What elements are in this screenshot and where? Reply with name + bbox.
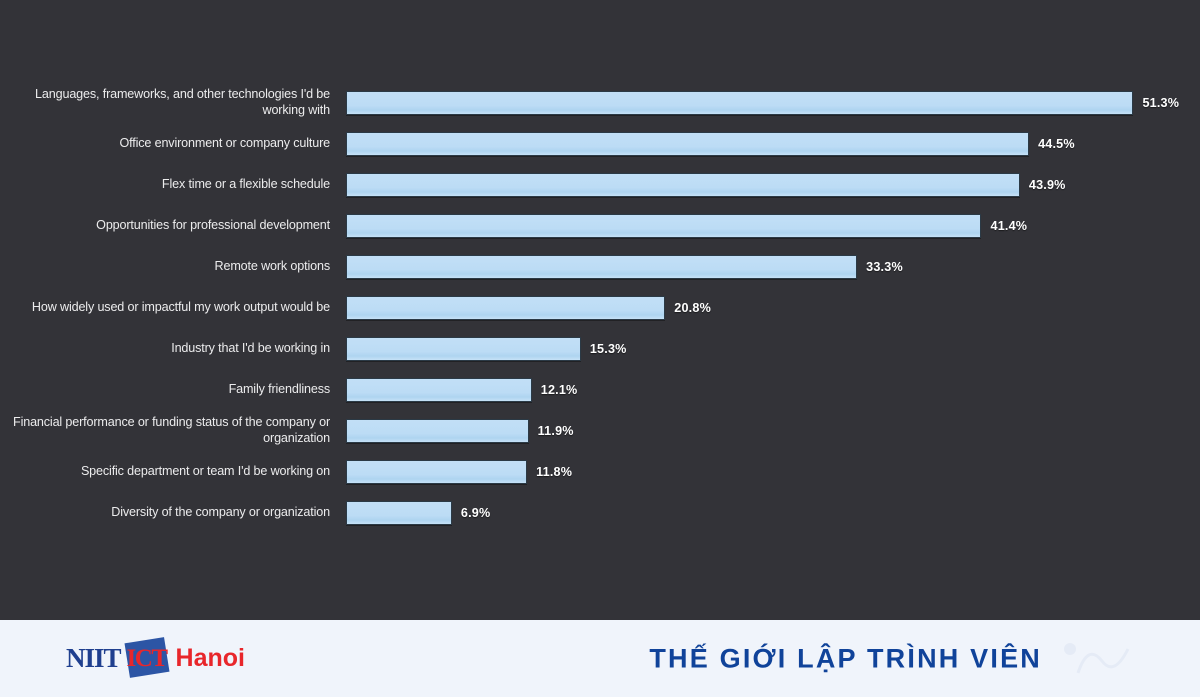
bar-row: Financial performance or funding status … <box>0 410 1200 451</box>
bar[interactable] <box>346 173 1020 197</box>
bar-value-label: 51.3% <box>1142 96 1179 110</box>
bar-category-label: Financial performance or funding status … <box>0 415 330 446</box>
bar-row: Remote work options33.3% <box>0 246 1200 287</box>
bar-value-label: 12.1% <box>541 383 578 397</box>
bar[interactable] <box>346 214 981 238</box>
chart-panel: Languages, frameworks, and other technol… <box>0 0 1200 620</box>
logo-ict-mark-icon: ICT <box>123 638 171 678</box>
bar-row: How widely used or impactful my work out… <box>0 287 1200 328</box>
bar[interactable] <box>346 296 665 320</box>
bar-track: 6.9% <box>346 492 1200 533</box>
footer-inner: NIIT ICT Hanoi THẾ GIỚI LẬP TRÌNH VIÊN <box>0 620 1200 697</box>
logo-text-hanoi: Hanoi <box>176 646 245 671</box>
bar-track: 11.8% <box>346 451 1200 492</box>
bar-value-label: 20.8% <box>674 301 711 315</box>
bar[interactable] <box>346 501 452 525</box>
bar-row: Opportunities for professional developme… <box>0 205 1200 246</box>
bar-track: 15.3% <box>346 328 1200 369</box>
bar[interactable] <box>346 91 1133 115</box>
bar-category-label: Industry that I'd be working in <box>0 341 330 357</box>
bar-track: 33.3% <box>346 246 1200 287</box>
bar-category-label: Remote work options <box>0 259 330 275</box>
bar-value-label: 15.3% <box>590 342 627 356</box>
bar-category-label: Family friendliness <box>0 382 330 398</box>
bar-row: Family friendliness12.1% <box>0 369 1200 410</box>
bar-category-label: How widely used or impactful my work out… <box>0 300 330 316</box>
bar-category-label: Flex time or a flexible schedule <box>0 177 330 193</box>
bar-row: Specific department or team I'd be worki… <box>0 451 1200 492</box>
bar-value-label: 6.9% <box>461 506 491 520</box>
bar-chart-plot: Languages, frameworks, and other technol… <box>0 82 1200 533</box>
bar[interactable] <box>346 255 857 279</box>
bar-track: 44.5% <box>346 123 1200 164</box>
bar-row: Industry that I'd be working in15.3% <box>0 328 1200 369</box>
bar-value-label: 43.9% <box>1029 178 1066 192</box>
bar[interactable] <box>346 132 1029 156</box>
logo-text-ict: ICT <box>123 646 171 671</box>
footer-bar: NIIT ICT Hanoi THẾ GIỚI LẬP TRÌNH VIÊN <box>0 620 1200 697</box>
bar-track: 43.9% <box>346 164 1200 205</box>
watermark-icon <box>1058 635 1148 687</box>
bar-row: Flex time or a flexible schedule43.9% <box>0 164 1200 205</box>
footer-tagline: THẾ GIỚI LẬP TRÌNH VIÊN <box>649 643 1042 674</box>
bar-track: 41.4% <box>346 205 1200 246</box>
bar-category-label: Office environment or company culture <box>0 136 330 152</box>
page-root: Languages, frameworks, and other technol… <box>0 0 1200 697</box>
bar-value-label: 41.4% <box>990 219 1027 233</box>
bar[interactable] <box>346 378 532 402</box>
bar-track: 11.9% <box>346 410 1200 451</box>
bar-track: 20.8% <box>346 287 1200 328</box>
bar-row: Office environment or company culture44.… <box>0 123 1200 164</box>
bar-value-label: 33.3% <box>866 260 903 274</box>
bar[interactable] <box>346 419 529 443</box>
bar-value-label: 11.9% <box>538 424 574 438</box>
niit-ict-hanoi-logo[interactable]: NIIT ICT Hanoi <box>66 638 245 678</box>
bar-category-label: Languages, frameworks, and other technol… <box>0 87 330 118</box>
bar[interactable] <box>346 460 527 484</box>
bar-category-label: Specific department or team I'd be worki… <box>0 464 330 480</box>
bar-value-label: 44.5% <box>1038 137 1075 151</box>
bar-value-label: 11.8% <box>536 465 572 479</box>
bar-track: 12.1% <box>346 369 1200 410</box>
bar-row: Languages, frameworks, and other technol… <box>0 82 1200 123</box>
bar-row: Diversity of the company or organization… <box>0 492 1200 533</box>
bar-track: 51.3% <box>346 82 1200 123</box>
bar-category-label: Diversity of the company or organization <box>0 505 330 521</box>
logo-text-niit: NIIT <box>66 645 121 672</box>
bar-category-label: Opportunities for professional developme… <box>0 218 330 234</box>
bar[interactable] <box>346 337 581 361</box>
